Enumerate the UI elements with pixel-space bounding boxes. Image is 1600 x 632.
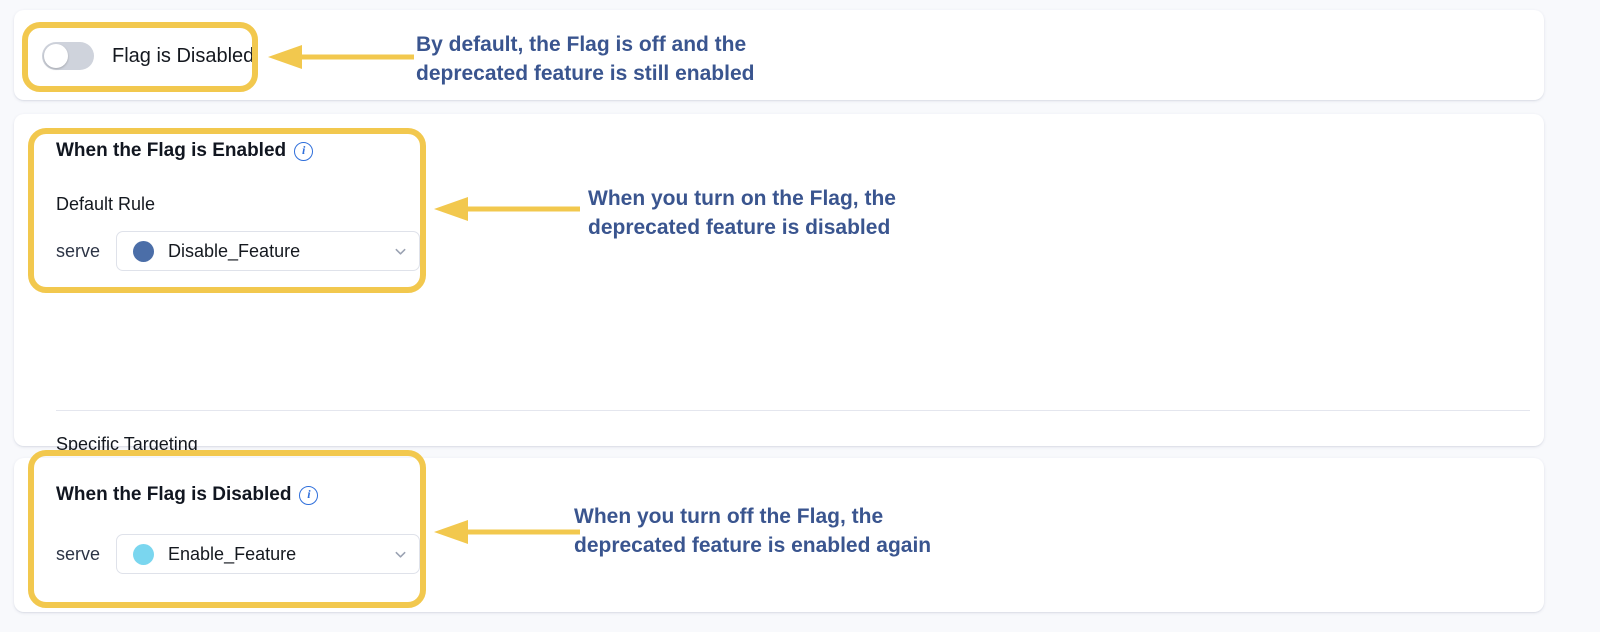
chevron-down-icon[interactable]: [394, 548, 407, 561]
serve-label-enabled: serve: [56, 241, 100, 262]
section-divider: [56, 410, 1530, 411]
chevron-down-icon[interactable]: [394, 245, 407, 258]
annotation-text-3: When you turn off the Flag, the deprecat…: [574, 502, 931, 560]
default-rule-variation-value: Disable_Feature: [168, 241, 380, 262]
disabled-serve-row: serve Enable_Feature: [56, 534, 420, 574]
flag-toggle-label: Flag is Disabled: [112, 45, 254, 68]
info-icon[interactable]: i: [294, 142, 313, 161]
annotated-feature-flag-screenshot: Flag is Disabled When the Flag is Enable…: [0, 0, 1600, 632]
disabled-variation-value: Enable_Feature: [168, 544, 380, 565]
when-flag-enabled-heading: When the Flag is Enabled i: [56, 140, 313, 162]
toggle-knob: [44, 44, 68, 68]
flag-enabled-card: When the Flag is Enabled i Default Rule …: [14, 114, 1544, 446]
flag-toggle-row[interactable]: Flag is Disabled: [42, 42, 254, 70]
default-rule-variation-select[interactable]: Disable_Feature: [116, 231, 420, 271]
when-flag-disabled-title: When the Flag is Disabled: [56, 484, 291, 506]
default-rule-serve-row: serve Disable_Feature: [56, 231, 420, 271]
flag-toggle-switch[interactable]: [42, 42, 94, 70]
annotation-text-1: By default, the Flag is off and the depr…: [416, 30, 754, 88]
info-icon[interactable]: i: [299, 486, 318, 505]
specific-targeting-label: Specific Targeting: [56, 434, 198, 455]
when-flag-enabled-title: When the Flag is Enabled: [56, 140, 286, 162]
default-rule-label: Default Rule: [56, 194, 155, 215]
variation-color-swatch: [133, 544, 154, 565]
flag-toggle-card: Flag is Disabled: [14, 10, 1544, 100]
disabled-variation-select[interactable]: Enable_Feature: [116, 534, 420, 574]
variation-color-swatch: [133, 241, 154, 262]
annotation-text-2: When you turn on the Flag, the deprecate…: [588, 184, 896, 242]
serve-label-disabled: serve: [56, 544, 100, 565]
when-flag-disabled-heading: When the Flag is Disabled i: [56, 484, 318, 506]
